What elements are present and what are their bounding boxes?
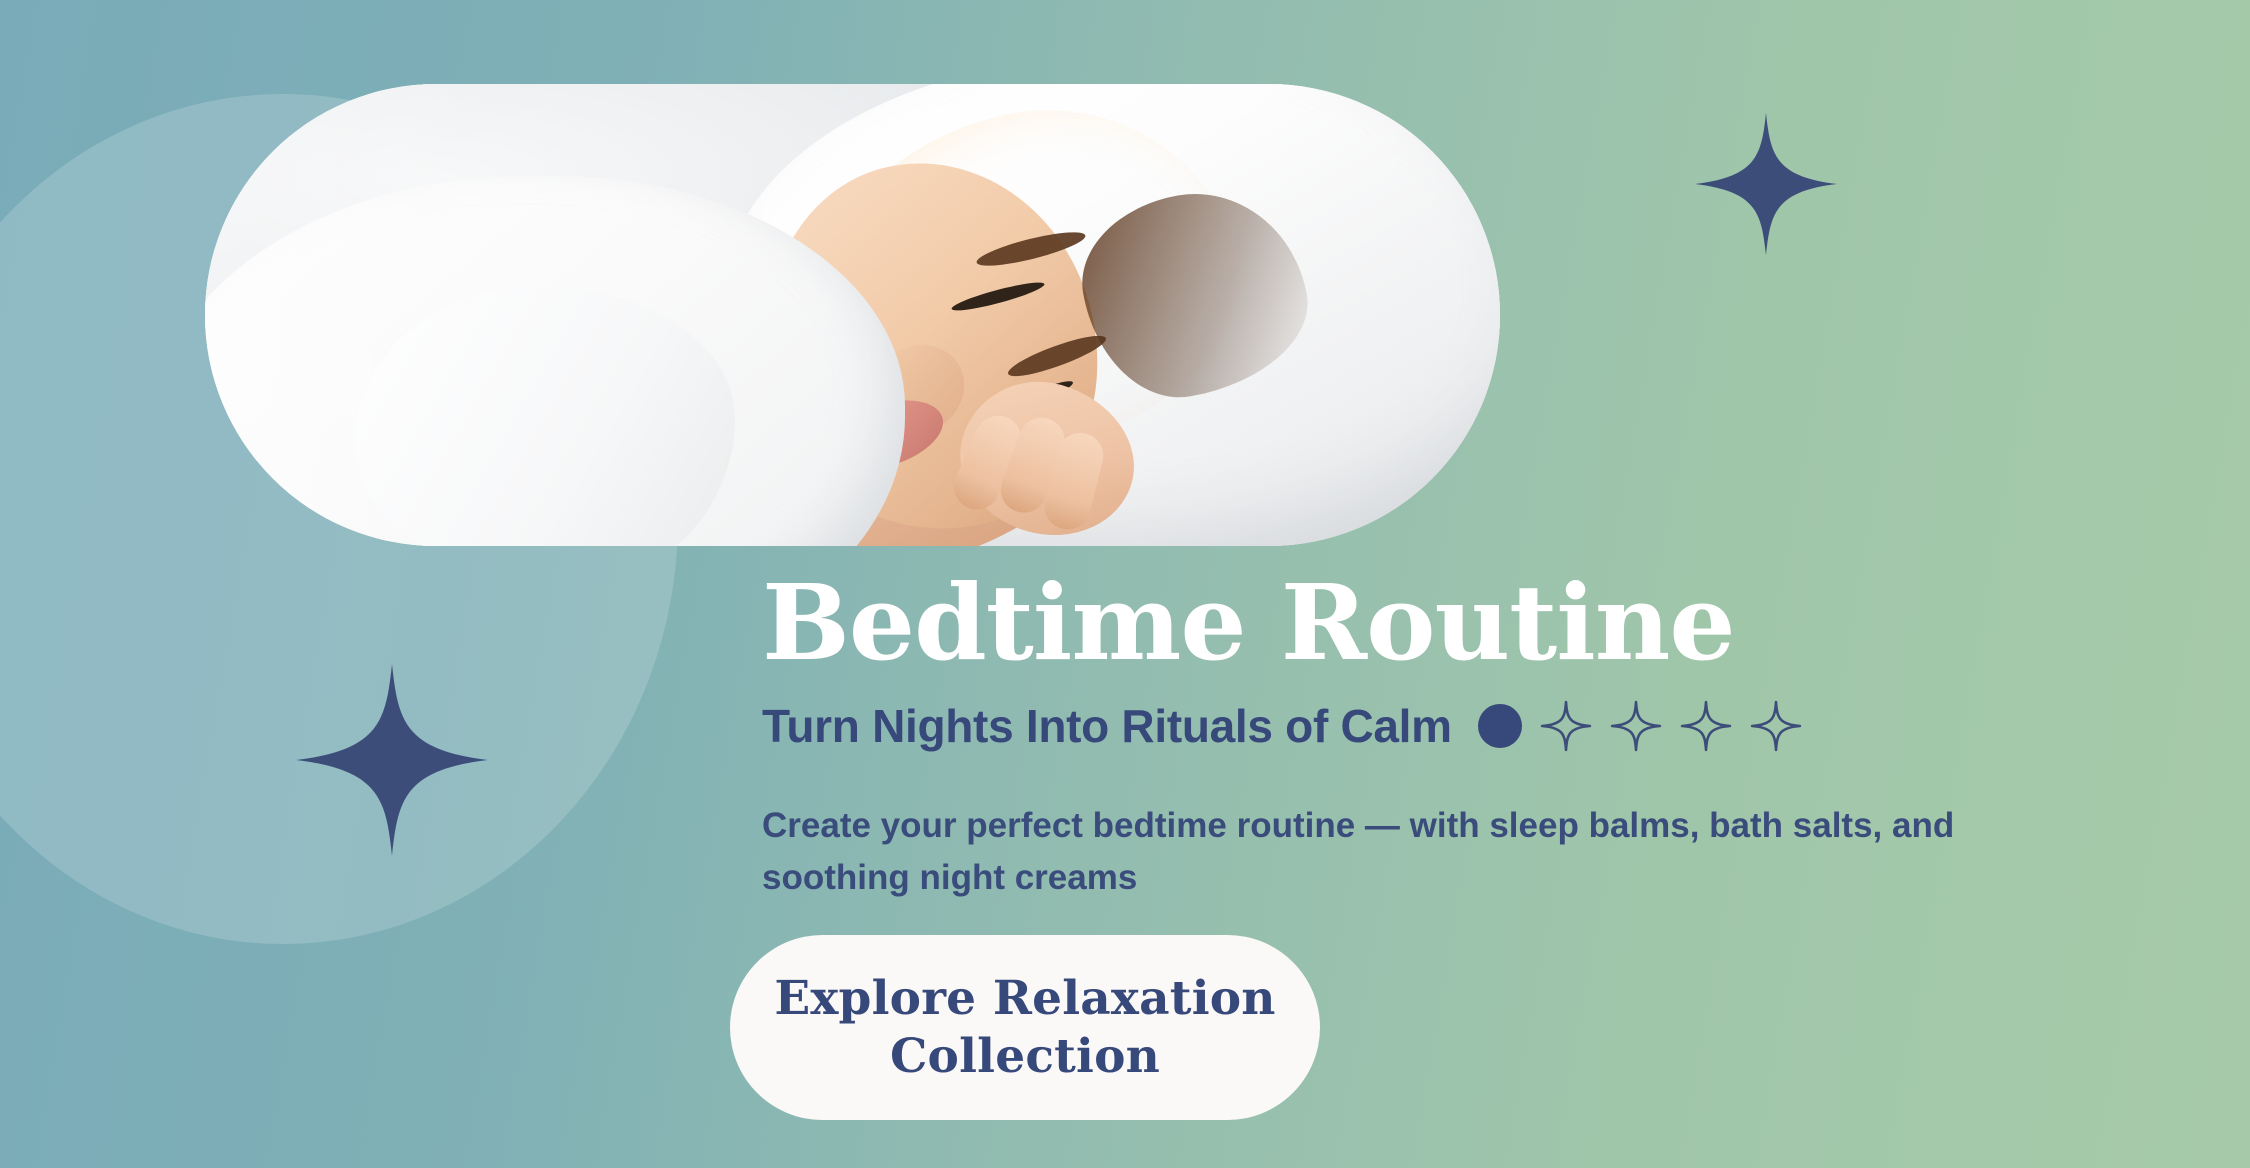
- filled-circle-icon: [1478, 704, 1522, 748]
- rating-row: [1478, 700, 1802, 752]
- sparkle-icon: [1692, 110, 1840, 258]
- subheadline-row: Turn Nights Into Rituals of Calm: [762, 700, 1802, 752]
- promo-banner: Bedtime Routine Turn Nights Into Rituals…: [0, 0, 2250, 1168]
- sparkle-outline-icon: [1750, 700, 1802, 752]
- sparkle-outline-icon: [1540, 700, 1592, 752]
- sparkle-icon: [292, 660, 492, 860]
- photo-canvas: [205, 84, 1500, 546]
- hero-photo: [205, 84, 1500, 546]
- page-title: Bedtime Routine: [762, 571, 1735, 675]
- sparkle-outline-icon: [1680, 700, 1732, 752]
- subheadline: Turn Nights Into Rituals of Calm: [762, 703, 1452, 749]
- body-text: Create your perfect bedtime routine — wi…: [762, 800, 2012, 904]
- explore-relaxation-collection-button[interactable]: Explore Relaxation Collection: [730, 935, 1320, 1120]
- sparkle-outline-icon: [1610, 700, 1662, 752]
